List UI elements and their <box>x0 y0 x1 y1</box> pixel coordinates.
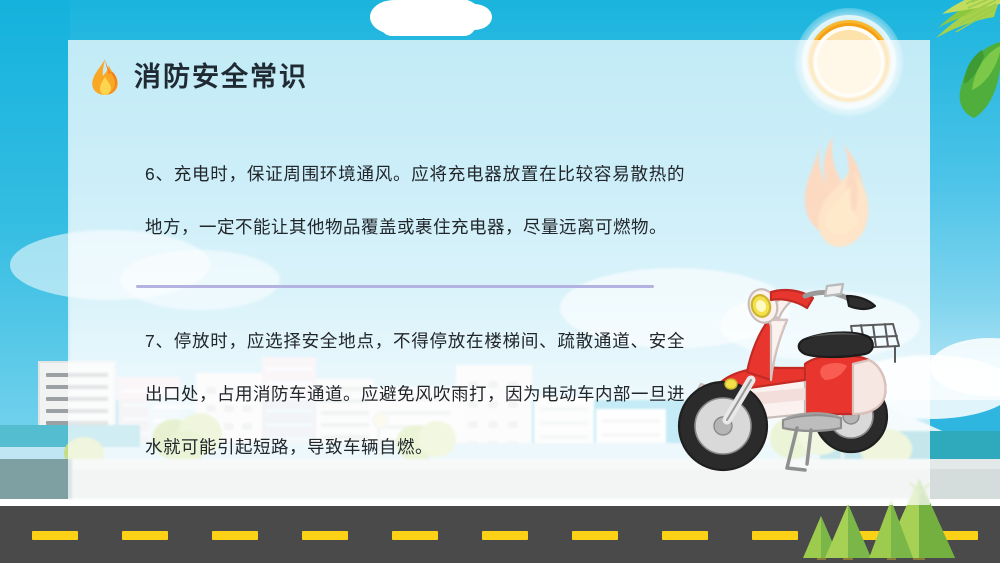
road-dash <box>122 531 168 540</box>
page-title: 消防安全常识 <box>134 64 308 91</box>
road-dash <box>662 531 708 540</box>
road-dash <box>32 531 78 540</box>
electric-scooter-illustration <box>655 268 945 488</box>
road-dash <box>212 531 258 540</box>
divider-line <box>136 285 654 288</box>
road-dash <box>752 531 798 540</box>
panel-header: 消防安全常识 <box>90 58 308 96</box>
road-dash <box>572 531 618 540</box>
road-dash <box>302 531 348 540</box>
paragraph-6: 6、充电时，保证周围环境通风。应将充电器放置在比较容易散热的地方，一定不能让其他… <box>145 148 685 254</box>
flame-icon <box>90 58 120 96</box>
paragraph-7: 7、停放时，应选择安全地点，不得停放在楼梯间、疏散通道、安全出口处，占用消防车通… <box>145 315 685 474</box>
road-dash <box>392 531 438 540</box>
slide-canvas: 消防安全常识 6、充电时，保证周围环境通风。应将充电器放置在比较容易散热的地方，… <box>0 0 1000 563</box>
road-dash <box>482 531 528 540</box>
